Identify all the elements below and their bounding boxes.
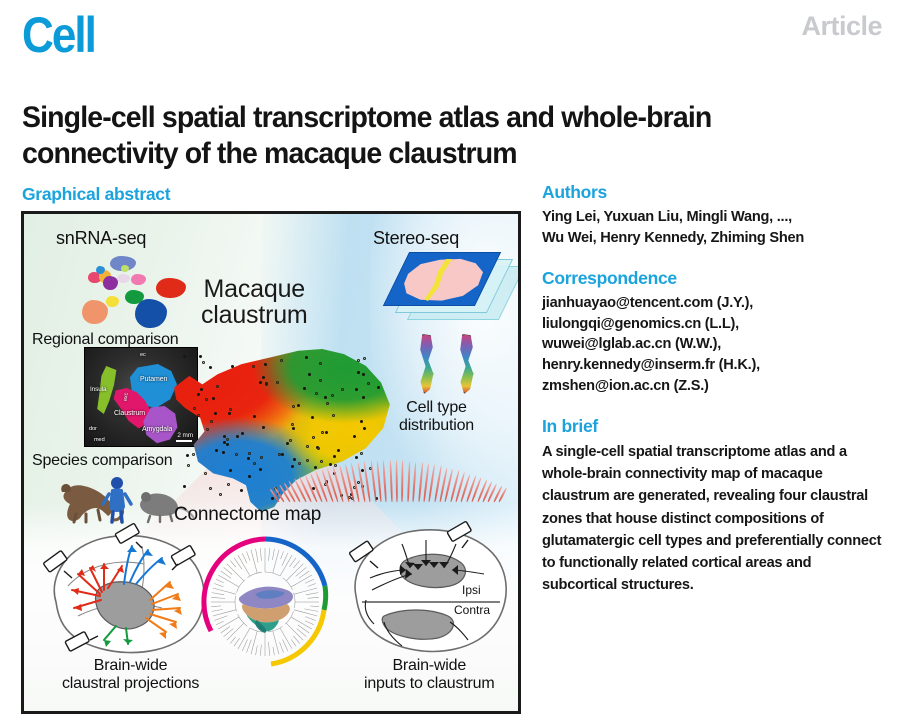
claustrum-cell-dot xyxy=(357,359,360,362)
feather-stroke xyxy=(370,461,377,502)
dendrogram-leaf xyxy=(276,645,279,655)
dendrogram-branch xyxy=(291,581,302,587)
section-label-ec: ec xyxy=(140,352,146,358)
macaque-line2: claustrum xyxy=(201,301,308,329)
correspondence-block: Correspondence jianhuayao@tencent.com (J… xyxy=(542,268,882,397)
dendrogram-branch xyxy=(294,592,304,595)
brain-wide-projections-diagram xyxy=(38,524,213,664)
cell-type-distribution-ribbons xyxy=(407,334,493,396)
human-silhouette xyxy=(100,476,134,522)
dendrogram-branch xyxy=(253,631,257,646)
dendrogram-arc-link xyxy=(235,596,237,611)
claustrum-cell-dot xyxy=(236,435,239,438)
label-connectome-map: Connectome map xyxy=(174,504,321,525)
article-page: Cell Article Single-cell spatial transcr… xyxy=(0,0,898,724)
label-cell-type-distribution: Cell typedistribution xyxy=(399,399,474,434)
dendrogram-leaf xyxy=(296,567,307,576)
feather-stroke xyxy=(396,460,399,502)
cell-journal-logo[interactable]: Cell xyxy=(22,10,95,60)
dendrogram-leaf xyxy=(216,579,224,583)
claustrum-cell-dot xyxy=(229,469,232,472)
feather-stroke xyxy=(412,462,417,503)
claustrum-cell-dot xyxy=(200,388,203,391)
dendrogram-leaf xyxy=(211,597,225,598)
section-label-insula: Insula xyxy=(90,386,106,393)
claustrum-cell-dot xyxy=(209,366,212,369)
dendrogram-leaf xyxy=(214,616,227,621)
claustrum-cell-dot xyxy=(264,363,267,366)
dendrogram-leaf xyxy=(251,550,253,558)
label-species-comparison: Species comparison xyxy=(32,452,172,470)
dendrogram-leaf xyxy=(230,637,235,644)
claustrum-cell-dot xyxy=(262,376,265,379)
authors-heading: Authors xyxy=(542,182,882,203)
claustrum-cell-dot xyxy=(280,359,283,362)
claustrum-cell-dot xyxy=(226,438,229,441)
claustrum-cell-dot xyxy=(265,383,268,386)
section-label-claustrum: Claustrum xyxy=(114,410,145,417)
correspondence-line-3[interactable]: wuwei@lglab.ac.cn (W.W.), xyxy=(542,334,882,355)
claustrum-cell-dot xyxy=(199,355,202,358)
dendrogram-leaf xyxy=(234,638,240,646)
brain-wide-inputs-diagram: Ipsi Contra xyxy=(344,524,512,664)
authors-list: Ying Lei, Yuxuan Liu, Mingli Wang, ..., … xyxy=(542,207,882,249)
section-label-dorsal: dor xyxy=(89,426,97,432)
dendrogram-leaf xyxy=(227,564,234,571)
claustrum-cell-dot xyxy=(292,405,295,408)
claustrum-cell-dot xyxy=(204,472,207,475)
claustrum-cell-dot xyxy=(325,431,328,434)
dendrogram-leaf xyxy=(290,558,297,567)
in-brief-heading: In brief xyxy=(542,416,882,437)
dendrogram-leaf xyxy=(242,553,247,563)
claustrum-cell-dot xyxy=(197,414,200,417)
dendrogram-leaf xyxy=(242,640,247,651)
dendrogram-leaf xyxy=(272,549,274,560)
claustrum-cell-dot xyxy=(219,493,222,496)
authors-line-2: Wu Wei, Henry Kennedy, Zhiming Shen xyxy=(542,230,804,246)
dendrogram-leaf xyxy=(280,642,284,653)
claustrum-cell-dot xyxy=(248,475,251,478)
dendrogram-leaf xyxy=(298,625,309,633)
dendrogram-leaf xyxy=(310,606,318,607)
dendrogram-leaf xyxy=(260,548,261,561)
dendrogram-leaf xyxy=(214,584,223,587)
dendrogram-leaf xyxy=(308,584,316,587)
dendrogram-leaf xyxy=(269,548,270,561)
dendrogram-leaf xyxy=(302,575,312,581)
red-feather-fan xyxy=(274,446,504,502)
dendrogram-leaf xyxy=(281,551,284,559)
claustrum-cell-dot xyxy=(202,361,205,364)
claustrum-cell-dot xyxy=(193,407,196,410)
macaque-line1: Macaque xyxy=(204,275,305,303)
claustrum-cell-dot xyxy=(209,487,212,490)
dendrogram-branch xyxy=(286,623,295,632)
claustrum-cell-dot xyxy=(235,453,238,456)
graphical-abstract-figure[interactable]: ec Putamen Insula exc Claustrum Amygdala… xyxy=(21,211,521,714)
claustrum-cell-dot xyxy=(212,397,215,400)
claustrum-cell-dot xyxy=(360,420,363,423)
correspondence-heading: Correspondence xyxy=(542,268,882,289)
dendrogram-leaf xyxy=(308,597,319,598)
correspondence-line-1[interactable]: jianhuayao@tencent.com (J.Y.), xyxy=(542,293,882,314)
dendrogram-leaf xyxy=(234,558,242,569)
circular-dendrogram xyxy=(197,534,333,670)
dendrogram-leaf xyxy=(213,613,225,616)
dendrogram-branch xyxy=(244,566,250,576)
correspondence-line-5[interactable]: zmshen@ion.ac.cn (Z.S.) xyxy=(542,376,882,397)
inputs-line1: Brain-wide xyxy=(392,657,466,674)
dendrogram-leaf xyxy=(213,588,224,591)
stereo-seq-slice-stack xyxy=(394,252,514,322)
authors-line-1: Ying Lei, Yuxuan Liu, Mingli Wang, ..., xyxy=(542,209,792,225)
dendrogram-branch xyxy=(225,610,236,613)
dendrogram-leaf xyxy=(247,551,250,560)
feather-stroke xyxy=(376,460,382,502)
dendrogram-leaf xyxy=(224,567,233,574)
label-regional-comparison: Regional comparison xyxy=(32,331,179,349)
claustrum-cell-dot xyxy=(241,432,244,435)
claustrum-cell-dot xyxy=(324,396,327,399)
article-metadata-column: Authors Ying Lei, Yuxuan Liu, Mingli Wan… xyxy=(542,182,882,615)
dendrogram-leaf xyxy=(238,639,244,649)
dendrogram-branch xyxy=(273,631,277,645)
dendrogram-leaf xyxy=(211,606,221,607)
claustrum-cell-dot xyxy=(183,355,186,358)
proj-line2: claustral projections xyxy=(62,675,199,692)
dendrogram-leaf xyxy=(212,609,223,611)
page-title: Single-cell spatial transcriptome atlas … xyxy=(22,100,833,173)
dendrogram-leaf xyxy=(305,625,312,629)
feather-stroke xyxy=(401,460,404,502)
dendrogram-leaf xyxy=(212,593,224,595)
dendrogram-leaf xyxy=(221,627,230,634)
ribbon-left xyxy=(419,334,434,394)
dendrogram-leaf xyxy=(218,624,227,629)
claustrum-cell-dot xyxy=(240,489,243,492)
celltype-line2: distribution xyxy=(399,417,474,434)
ribbon-right xyxy=(459,334,474,394)
dendrogram-branch xyxy=(286,570,297,581)
dendrogram-leaf xyxy=(227,630,237,640)
dendrogram-leaf xyxy=(305,579,314,583)
dendrogram-leaf xyxy=(305,617,316,621)
label-contra: Contra xyxy=(454,603,490,617)
dendrogram-leaf xyxy=(306,593,318,595)
dendrogram-branch xyxy=(294,610,305,613)
claustrum-cell-dot xyxy=(262,426,265,429)
dendrogram-leaf xyxy=(293,636,299,644)
dendrogram-leaf xyxy=(247,640,252,653)
umap-cluster-plot xyxy=(72,256,204,334)
dendrogram-leaf xyxy=(297,564,303,570)
masthead: Cell Article xyxy=(0,0,898,76)
dendrogram-leaf xyxy=(304,588,318,592)
dendrogram-leaf xyxy=(276,550,279,560)
dendrogram-leaf xyxy=(304,609,318,612)
section-label-exc: exc xyxy=(123,392,130,401)
feather-stroke xyxy=(383,460,388,502)
celltype-line1: Cell type xyxy=(406,399,466,416)
dendrogram-branch xyxy=(230,582,239,587)
dendrogram-leaf xyxy=(256,549,259,563)
claustrum-cell-dot xyxy=(186,454,189,457)
claustrum-cell-dot xyxy=(182,373,185,376)
dendrogram-branch xyxy=(253,558,257,573)
dendrogram-arc-link xyxy=(265,572,280,576)
label-brain-wide-inputs-to-claustrum: Brain-wideinputs to claustrum xyxy=(364,657,494,693)
feather-stroke xyxy=(407,461,411,502)
label-stereo-seq: Stereo-seq xyxy=(373,228,459,248)
claustrum-cell-dot xyxy=(216,385,219,388)
dendrogram-leaf xyxy=(251,646,253,654)
section-label-amygdala: Amygdala xyxy=(142,426,172,433)
dendrogram-branch xyxy=(227,617,239,624)
claustrum-cell-dot xyxy=(187,464,190,467)
dendrogram-leaf xyxy=(305,621,314,625)
dendrogram-leaf xyxy=(273,647,275,655)
dendrogram-leaf xyxy=(216,621,224,625)
section-label-putamen: Putamen xyxy=(140,376,167,383)
dendrogram-branch xyxy=(280,566,286,576)
label-snrna-seq: snRNA-seq xyxy=(56,228,146,248)
claustrum-cell-dot xyxy=(222,451,225,454)
claustrum-cell-dot xyxy=(362,373,365,376)
dendrogram-leaf xyxy=(283,640,288,651)
proj-line1: Brain-wide xyxy=(94,657,168,674)
article-type-kicker: Article xyxy=(801,11,882,42)
claustrum-cell-dot xyxy=(319,362,322,365)
dendrogram-branch xyxy=(291,617,305,625)
correspondence-line-4[interactable]: henry.kennedy@inserm.fr (H.K.), xyxy=(542,355,882,376)
claustrum-cell-dot xyxy=(363,357,366,360)
claustrum-cell-dot xyxy=(227,483,230,486)
claustrum-cell-dot xyxy=(292,427,295,430)
claustrum-cell-dot xyxy=(192,453,195,456)
in-brief-text: A single-cell spatial transcriptome atla… xyxy=(542,441,882,596)
dendrogram-leaf xyxy=(305,613,317,616)
claustrum-cell-dot xyxy=(247,457,250,460)
graphical-abstract-heading: Graphical abstract xyxy=(22,184,170,205)
dendrogram-leaf xyxy=(260,645,261,656)
dendrogram-branch xyxy=(234,571,244,581)
dendrogram-branch xyxy=(244,628,250,639)
correspondence-line-2[interactable]: liulongqi@genomics.cn (L.L), xyxy=(542,314,882,335)
claustrum-cell-dot xyxy=(260,456,263,459)
claustrum-cell-dot xyxy=(231,365,234,368)
in-brief-block: In brief A single-cell spatial transcrip… xyxy=(542,416,882,596)
claustrum-cell-dot xyxy=(355,388,358,391)
dendrogram-leaf xyxy=(293,561,299,569)
claustrum-cell-dot xyxy=(206,428,209,431)
claustrum-cell-dot xyxy=(331,394,334,397)
label-macaque-claustrum: Macaqueclaustrum xyxy=(201,276,308,328)
inputs-line2: inputs to claustrum xyxy=(364,675,494,692)
claustrum-cell-dot xyxy=(377,386,380,389)
feather-stroke xyxy=(418,462,424,502)
dendrogram-arc-link xyxy=(294,593,296,608)
dendrogram-branch xyxy=(237,623,244,630)
authors-block: Authors Ying Lei, Yuxuan Liu, Mingli Wan… xyxy=(542,182,882,249)
correspondence-emails[interactable]: jianhuayao@tencent.com (J.Y.),liulongqi@… xyxy=(542,293,882,397)
dendrogram-branch xyxy=(273,559,277,573)
label-brain-wide-claustral-projections: Brain-wideclaustral projections xyxy=(62,657,199,693)
dendrogram-leaf xyxy=(295,632,303,640)
dendrogram-branch xyxy=(224,591,236,594)
dendrogram-leaf xyxy=(269,642,270,656)
label-ipsi: Ipsi xyxy=(462,583,481,597)
feather-stroke xyxy=(389,460,393,502)
dendrogram-leaf xyxy=(230,561,235,568)
dendrogram-leaf xyxy=(256,646,258,656)
dendrogram-leaf xyxy=(291,639,296,646)
section-label-medial: med xyxy=(94,437,105,443)
dendrogram-branch xyxy=(280,628,285,637)
